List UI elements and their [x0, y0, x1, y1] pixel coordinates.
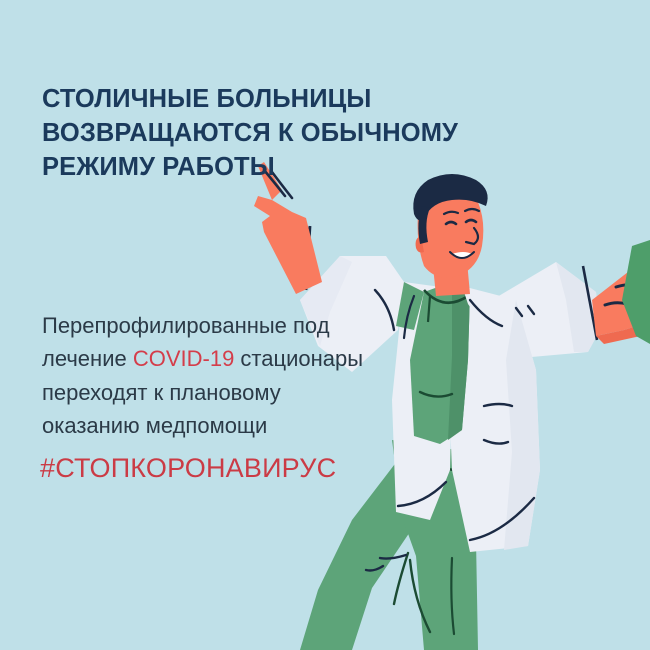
poster-canvas: СТОЛИЧНЫЕ БОЛЬНИЦЫ ВОЗВРАЩАЮТСЯ К ОБЫЧНО…: [0, 0, 650, 650]
hashtag-stopcoronavirus: #СТОПКОРОНАВИРУС: [40, 453, 336, 484]
body-copy: Перепрофилированные под лечение COVID-19…: [42, 309, 372, 443]
page-title: СТОЛИЧНЫЕ БОЛЬНИЦЫ ВОЗВРАЩАЮТСЯ К ОБЫЧНО…: [42, 83, 512, 185]
covid-accent-text: COVID-19: [133, 346, 234, 371]
